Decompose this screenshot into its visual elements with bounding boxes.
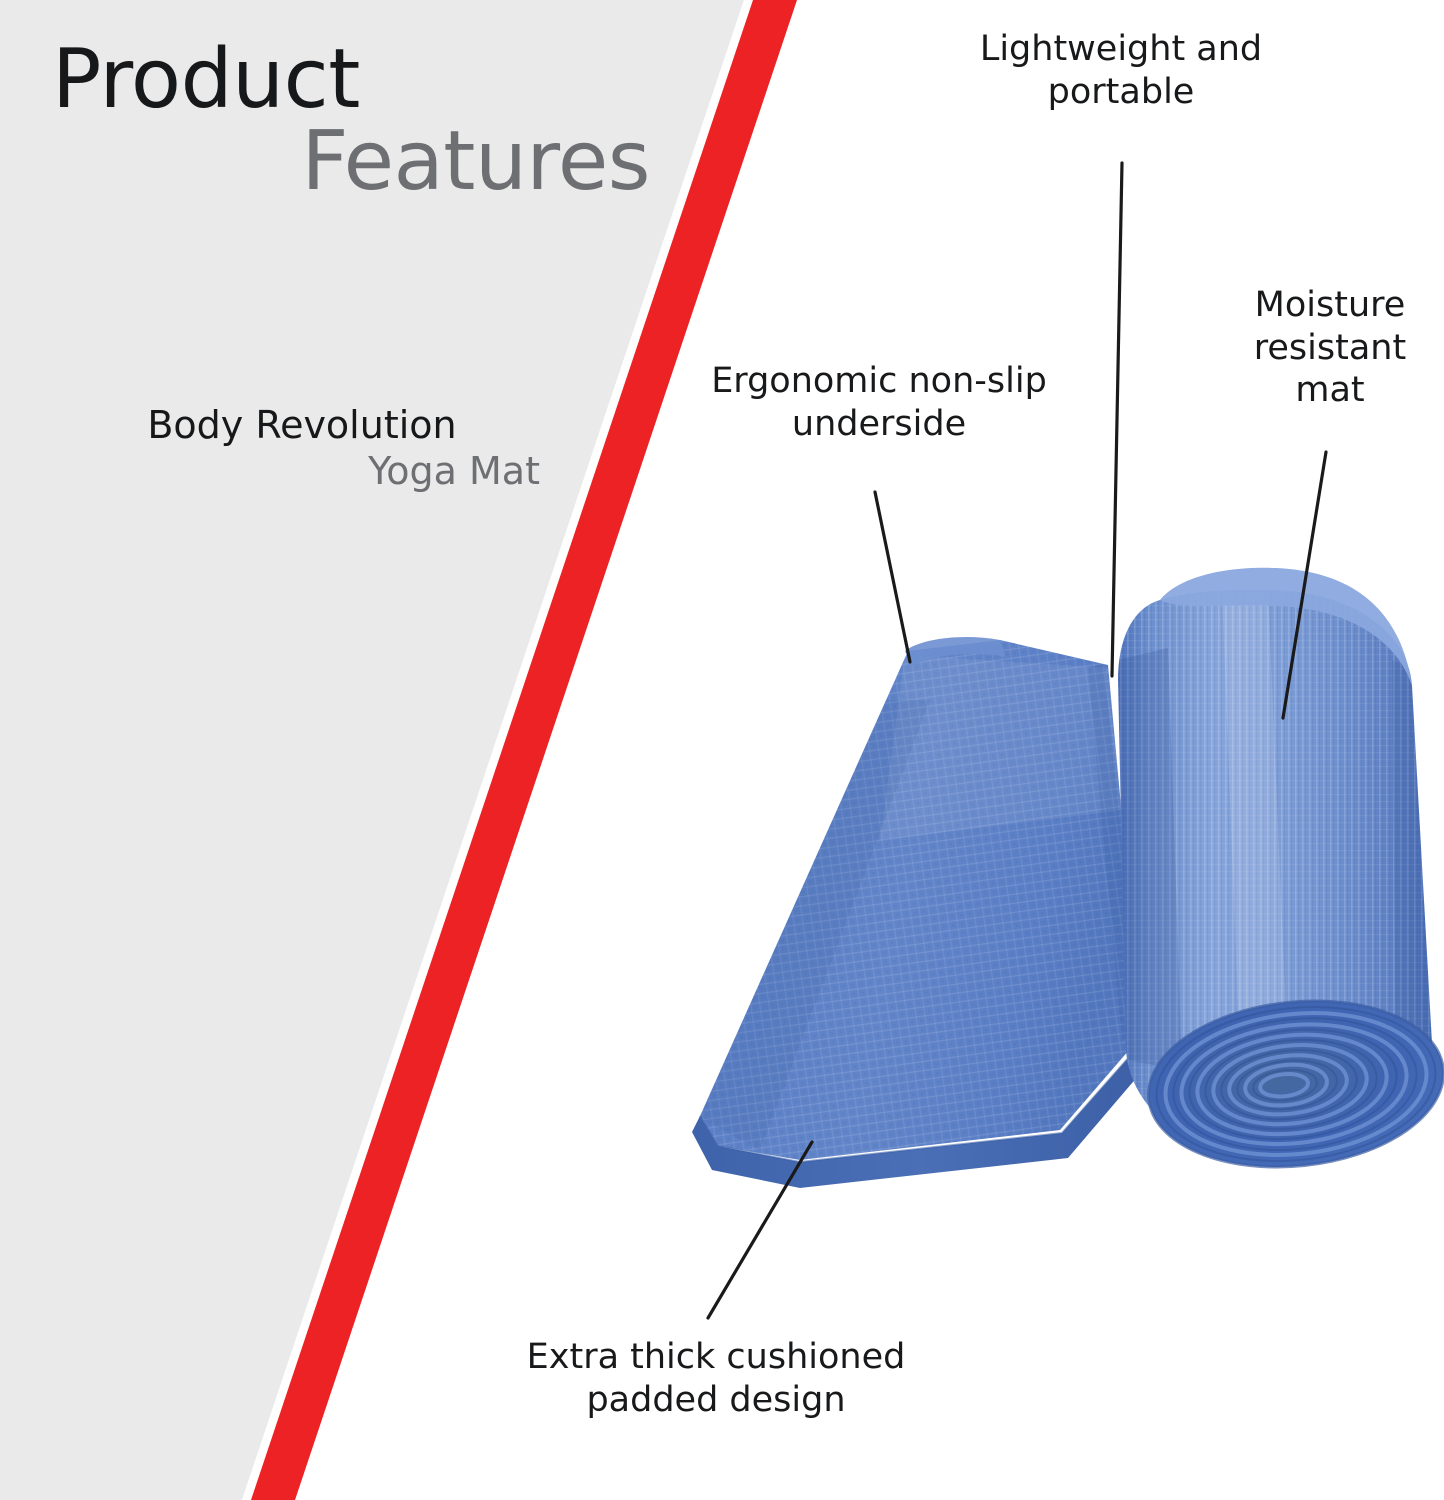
callout-label-lightweight: Lightweight and portable	[936, 28, 1306, 113]
mat-rolled-section	[1110, 568, 1444, 1181]
yoga-mat-illustration	[0, 0, 1444, 1500]
callout-label-ergonomic: Ergonomic non-slip underside	[664, 360, 1094, 445]
mat-flat-section	[680, 620, 1180, 1200]
product-features-infographic: Product Features Body Revolution Yoga Ma…	[0, 0, 1444, 1500]
callout-label-extra-thick: Extra thick cushioned padded design	[466, 1336, 966, 1421]
callout-label-moisture: Moisture resistant mat	[1222, 284, 1438, 412]
